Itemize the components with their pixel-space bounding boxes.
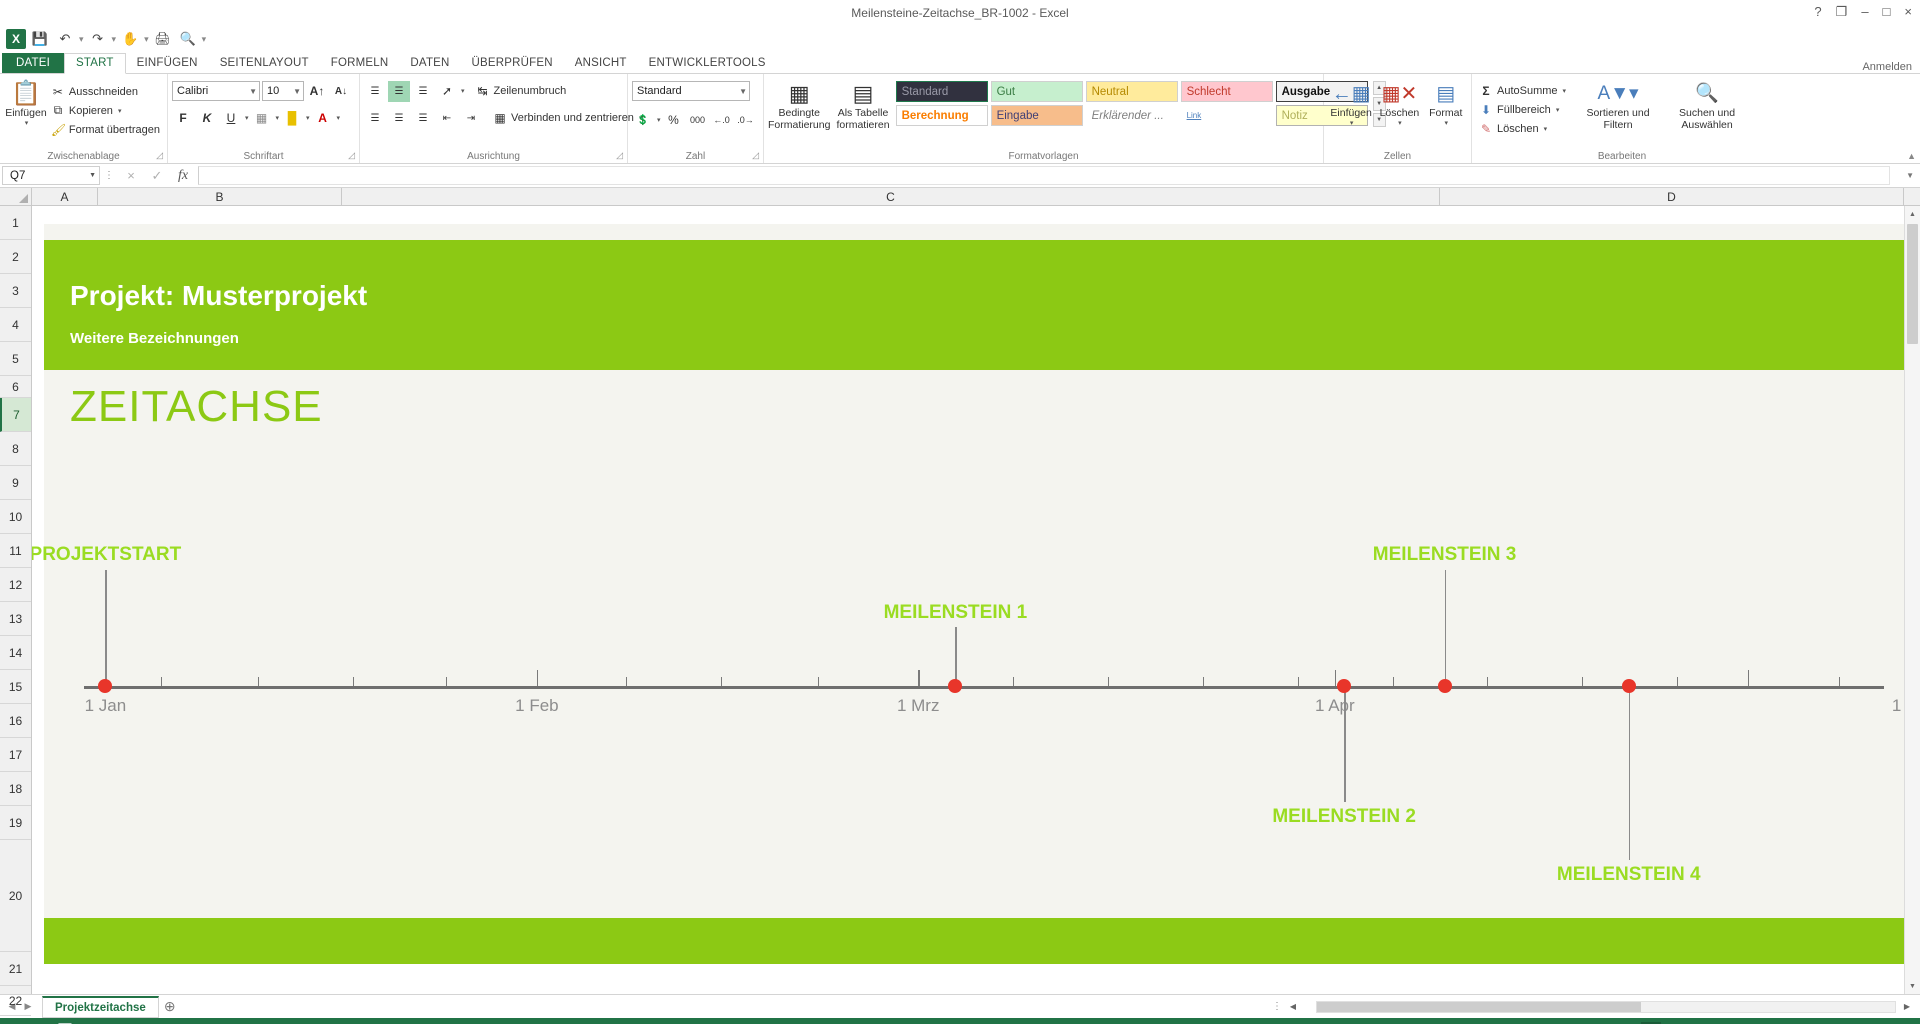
- comma-style-icon[interactable]: 000: [687, 110, 709, 131]
- font-color-dropdown-icon[interactable]: ▾: [337, 114, 341, 122]
- grid-body: 1 2 3 4 5 6 7 8 9 10 11 12 13 14 15 16 1…: [0, 206, 1920, 994]
- timeline-heading: ZEITACHSE: [70, 382, 323, 432]
- sort-filter-label-1: Sortieren und: [1587, 107, 1650, 119]
- wrap-text-button[interactable]: ↹ Zeilenumbruch: [473, 82, 570, 101]
- font-name-dropdown-icon[interactable]: ▼: [245, 87, 257, 96]
- number-format-select[interactable]: Standard ▼: [632, 81, 750, 101]
- conditional-formatting-button[interactable]: ▦ Bedingte Formatierung: [768, 79, 830, 131]
- row-headers: 1 2 3 4 5 6 7 8 9 10 11 12 13 14 15 16 1…: [0, 206, 32, 994]
- alignment-dialog-launcher-icon[interactable]: ◿: [616, 150, 623, 161]
- number-dialog-launcher-icon[interactable]: ◿: [752, 150, 759, 161]
- formula-bar-options-icon[interactable]: ⋮: [100, 170, 118, 181]
- paste-label: Einfügen: [5, 107, 46, 119]
- timeline-graphic[interactable]: Projekt: Musterprojekt Weitere Bezeichnu…: [44, 224, 1904, 964]
- tab-datei[interactable]: DATEI: [2, 53, 64, 73]
- borders-dropdown-icon[interactable]: ▾: [276, 114, 280, 122]
- group-label-editing: Bearbeiten: [1472, 151, 1772, 162]
- row-header-3[interactable]: 3: [0, 274, 31, 308]
- formula-input[interactable]: [198, 166, 1890, 185]
- sheet-tab-projektzeitachse[interactable]: Projektzeitachse: [42, 996, 159, 1018]
- find-select-button[interactable]: 🔍 Suchen und Auswählen: [1667, 79, 1747, 131]
- underline-button[interactable]: U: [220, 108, 242, 129]
- row-header-4[interactable]: 4: [0, 308, 31, 342]
- group-label-cells: Zellen: [1324, 151, 1471, 162]
- sort-filter-icon: A▼▾: [1598, 81, 1639, 107]
- column-header-d[interactable]: D: [1440, 188, 1904, 205]
- hscroll-track[interactable]: [1316, 1001, 1896, 1013]
- row-header-9[interactable]: 9: [0, 466, 31, 500]
- conditional-formatting-label-1: Bedingte: [779, 107, 820, 119]
- align-middle-icon[interactable]: ☰: [388, 81, 410, 102]
- fill-down-icon: ⬇: [1479, 103, 1493, 117]
- milestone-marker-dot: [948, 679, 962, 693]
- cell-style-gut[interactable]: Gut: [991, 81, 1083, 102]
- milestone-label-2: MEILENSTEIN 2: [1272, 806, 1416, 828]
- row-header-14[interactable]: 14: [0, 636, 31, 670]
- row-header-15[interactable]: 15: [0, 670, 31, 704]
- bold-button[interactable]: F: [172, 108, 194, 129]
- hscroll-thumb[interactable]: [1317, 1002, 1641, 1012]
- ribbon: 📋 Einfügen ▾ ✂ Ausschneiden ⧉ Kopieren ▾: [0, 74, 1920, 164]
- cell-style-schlecht[interactable]: Schlecht: [1181, 81, 1273, 102]
- number-format-dropdown-icon[interactable]: ▼: [735, 87, 747, 96]
- merge-center-button[interactable]: ▦ Verbinden und zentrieren ▾: [490, 109, 645, 128]
- currency-dropdown-icon[interactable]: ▾: [657, 116, 661, 124]
- vertical-scroll-thumb[interactable]: [1907, 224, 1918, 344]
- cell-style-neutral[interactable]: Neutral: [1086, 81, 1178, 102]
- milestone-label-projektstart: PROJEKTSTART: [32, 544, 181, 566]
- name-box[interactable]: Q7 ▼: [2, 166, 100, 185]
- row-header-18[interactable]: 18: [0, 772, 31, 806]
- column-header-c[interactable]: C: [342, 188, 1440, 205]
- tab-split-grip-icon[interactable]: ⋮: [1272, 1001, 1282, 1012]
- hscroll-right-icon[interactable]: ▶: [1900, 1002, 1914, 1011]
- ribbon-group-editing: Σ AutoSumme ▾ ⬇ Füllbereich ▾ ✎ Löschen …: [1472, 74, 1772, 163]
- delete-cells-button[interactable]: ▦✕ Löschen ▾: [1376, 79, 1422, 127]
- row-header-16[interactable]: 16: [0, 704, 31, 738]
- sort-filter-label-2: Filtern: [1603, 119, 1632, 131]
- ribbon-group-clipboard: 📋 Einfügen ▾ ✂ Ausschneiden ⧉ Kopieren ▾: [0, 74, 168, 163]
- fill-dropdown-icon[interactable]: ▾: [1556, 106, 1560, 114]
- merge-cells-icon: ▦: [493, 111, 507, 125]
- currency-icon[interactable]: 💲: [632, 110, 654, 131]
- group-label-clipboard: Zwischenablage: [0, 151, 167, 162]
- ribbon-group-number: Standard ▼ 💲 ▾ % 000 ←.0 .0→ Zahl ◿: [628, 74, 764, 163]
- grow-font-icon[interactable]: A↑: [306, 81, 328, 102]
- save-icon[interactable]: 💾: [29, 28, 51, 50]
- name-box-value: Q7: [10, 170, 25, 182]
- find-select-label-2: Auswählen: [1681, 119, 1732, 131]
- row-header-11[interactable]: 11: [0, 534, 31, 568]
- format-cells-dropdown-icon[interactable]: ▾: [1445, 119, 1449, 127]
- delete-cells-icon: ▦✕: [1382, 81, 1418, 107]
- row-header-10[interactable]: 10: [0, 500, 31, 534]
- date-label-apr: 1 Apr: [1315, 696, 1355, 716]
- cut-button[interactable]: ✂ Ausschneiden: [48, 82, 163, 101]
- format-as-table-button[interactable]: ▤ Als Tabelle formatieren: [836, 79, 889, 131]
- scroll-down-icon[interactable]: ▼: [1905, 978, 1920, 994]
- clear-label: Löschen: [1497, 123, 1539, 135]
- tab-daten[interactable]: DATEN: [399, 54, 460, 73]
- table-icon: ▤: [853, 81, 874, 107]
- row-header-21[interactable]: 21: [0, 952, 31, 986]
- fill-label: Füllbereich: [1497, 104, 1551, 116]
- excel-logo-icon: X: [6, 29, 26, 49]
- date-label-jan: 1 Jan: [85, 696, 127, 716]
- align-center-icon[interactable]: ☰: [388, 108, 410, 129]
- cell-style-erklaerender[interactable]: Erklärender ...: [1086, 105, 1178, 126]
- sheet-canvas[interactable]: Projekt: Musterprojekt Weitere Bezeichnu…: [32, 206, 1920, 994]
- format-as-table-label-2: formatieren: [836, 119, 889, 131]
- group-label-styles: Formatvorlagen: [764, 151, 1323, 162]
- date-label-feb: 1 Feb: [515, 696, 558, 716]
- clipboard-dialog-launcher-icon[interactable]: ◿: [156, 150, 163, 161]
- date-label-mrz: 1 Mrz: [897, 696, 940, 716]
- cut-label: Ausschneiden: [69, 86, 138, 98]
- milestone-marker-dot: [1622, 679, 1636, 693]
- fill-color-icon[interactable]: █: [281, 108, 303, 129]
- insert-cells-icon: ←▦: [1332, 81, 1371, 107]
- conditional-formatting-icon: ▦: [789, 81, 810, 107]
- select-all-button[interactable]: [0, 188, 32, 205]
- sign-in-link[interactable]: Anmelden: [1862, 61, 1920, 73]
- print-preview-icon[interactable]: 🔍: [177, 28, 199, 50]
- milestone-marker-dot: [98, 679, 112, 693]
- row-header-6[interactable]: 6: [0, 376, 31, 398]
- format-cells-label: Format: [1429, 107, 1462, 119]
- vertical-scrollbar[interactable]: ▲ ▼: [1904, 206, 1920, 994]
- autosum-label: AutoSumme: [1497, 85, 1558, 97]
- copy-button[interactable]: ⧉ Kopieren ▾: [48, 101, 163, 120]
- minimize-icon[interactable]: –: [1861, 2, 1868, 22]
- font-name-value: Calibri: [177, 85, 208, 97]
- milestone-label-1: MEILENSTEIN 1: [884, 602, 1028, 624]
- ribbon-group-alignment: ☰ ☰ ☰ ➚ ▾ ↹ Zeilenumbruch ☰ ☰ ☰ ⇤ ⇥: [360, 74, 628, 163]
- paintbrush-icon: 🖌: [51, 123, 65, 137]
- delete-cells-dropdown-icon[interactable]: ▾: [1398, 119, 1402, 127]
- paste-icon: 📋: [11, 81, 41, 107]
- row-header-7[interactable]: 7: [0, 398, 31, 432]
- tab-formeln[interactable]: FORMELN: [320, 54, 400, 73]
- timeline-axis: [84, 686, 1884, 689]
- align-bottom-icon[interactable]: ☰: [412, 81, 434, 102]
- font-size-value: 10: [267, 85, 279, 97]
- align-left-icon[interactable]: ☰: [364, 108, 386, 129]
- redo-dropdown-icon[interactable]: ▾: [112, 34, 117, 45]
- tab-ansicht[interactable]: ANSICHT: [564, 54, 638, 73]
- ribbon-display-options-icon[interactable]: ❐: [1836, 2, 1848, 22]
- tab-einfuegen[interactable]: EINFÜGEN: [126, 54, 209, 73]
- cancel-entry-icon[interactable]: ×: [118, 168, 144, 183]
- group-label-number: Zahl: [628, 151, 763, 162]
- conditional-formatting-label-2: Formatierung: [768, 119, 830, 131]
- decrease-decimal-icon[interactable]: .0→: [735, 110, 757, 131]
- customize-qat-icon[interactable]: ▾: [202, 34, 207, 45]
- autosum-dropdown-icon[interactable]: ▾: [1563, 87, 1567, 95]
- insert-cells-dropdown-icon[interactable]: ▾: [1350, 119, 1354, 127]
- orientation-icon[interactable]: ➚: [436, 81, 458, 102]
- milestone-label-4: MEILENSTEIN 4: [1557, 864, 1701, 886]
- row-header-20[interactable]: 20: [0, 840, 31, 952]
- timeline-footer-band: [44, 918, 1904, 964]
- insert-cells-button[interactable]: ←▦ Einfügen ▾: [1328, 79, 1374, 127]
- font-name-input[interactable]: Calibri ▼: [172, 81, 260, 101]
- window-controls: ? ❐ – □ ×: [1814, 2, 1912, 22]
- align-right-icon[interactable]: ☰: [412, 108, 434, 129]
- borders-icon[interactable]: ▦: [251, 108, 273, 129]
- project-subtitle: Weitere Bezeichnungen: [70, 330, 239, 347]
- print-icon[interactable]: 🖨: [152, 28, 174, 50]
- column-headers: A B C D: [0, 188, 1920, 206]
- delete-cells-label: Löschen: [1380, 107, 1420, 119]
- maximize-icon[interactable]: □: [1883, 2, 1891, 22]
- undo-dropdown-icon[interactable]: ▾: [79, 34, 84, 45]
- project-title: Projekt: Musterprojekt: [70, 280, 367, 312]
- group-label-alignment: Ausrichtung: [360, 151, 627, 162]
- formula-bar: Q7 ▼ ⋮ × ✓ fx ▼: [0, 164, 1920, 188]
- accept-entry-icon[interactable]: ✓: [144, 168, 170, 184]
- tab-ueberpruefen[interactable]: ÜBERPRÜFEN: [461, 54, 564, 73]
- find-select-label-1: Suchen und: [1679, 107, 1735, 119]
- milestone-marker-dot: [1438, 679, 1452, 693]
- add-sheet-icon[interactable]: ⊕: [159, 998, 181, 1015]
- wrap-text-icon: ↹: [476, 84, 490, 98]
- decrease-indent-icon[interactable]: ⇤: [436, 108, 458, 129]
- underline-dropdown-icon[interactable]: ▾: [245, 114, 249, 122]
- collapse-ribbon-icon[interactable]: ▲: [1907, 151, 1916, 161]
- font-size-input[interactable]: 10 ▼: [262, 81, 304, 101]
- touch-dropdown-icon[interactable]: ▾: [144, 34, 149, 45]
- milestone-label-3: MEILENSTEIN 3: [1373, 544, 1517, 566]
- row-header-8[interactable]: 8: [0, 432, 31, 466]
- row-header-17[interactable]: 17: [0, 738, 31, 772]
- ribbon-group-font: Calibri ▼ 10 ▼ A↑ A↓ F K U ▾ ▦ ▾: [168, 74, 360, 163]
- paste-dropdown-icon[interactable]: ▾: [25, 119, 29, 127]
- copy-icon: ⧉: [51, 103, 65, 118]
- close-icon[interactable]: ×: [1904, 2, 1912, 22]
- name-box-dropdown-icon[interactable]: ▼: [89, 172, 96, 179]
- row-header-19[interactable]: 19: [0, 806, 31, 840]
- scroll-up-icon[interactable]: ▲: [1905, 206, 1920, 222]
- italic-button[interactable]: K: [196, 108, 218, 129]
- row-header-13[interactable]: 13: [0, 602, 31, 636]
- copy-dropdown-icon[interactable]: ▾: [118, 107, 122, 115]
- quick-access-toolbar: X 💾 ↶ ▾ ↷ ▾ ✋ ▾ 🖨 🔍 ▾: [0, 26, 1920, 52]
- window-title: Meilensteine-Zeitachse_BR-1002 - Excel: [0, 0, 1920, 26]
- expand-formula-bar-icon[interactable]: ▼: [1906, 171, 1918, 180]
- tab-start[interactable]: START: [64, 53, 126, 74]
- undo-icon[interactable]: ↶: [54, 28, 76, 50]
- ribbon-tab-strip: DATEI START EINFÜGEN SEITENLAYOUT FORMEL…: [0, 52, 1920, 74]
- redo-icon[interactable]: ↷: [87, 28, 109, 50]
- excel-window: Meilensteine-Zeitachse_BR-1002 - Excel ?…: [0, 0, 1920, 1024]
- tab-seitenlayout[interactable]: SEITENLAYOUT: [209, 54, 320, 73]
- sheet-tab-bar: ◀ ▶ Projektzeitachse ⊕ ⋮ ◀ ▶: [0, 994, 1920, 1018]
- title-bar: Meilensteine-Zeitachse_BR-1002 - Excel ?…: [0, 0, 1920, 26]
- row-header-5[interactable]: 5: [0, 342, 31, 376]
- ribbon-group-cells: ←▦ Einfügen ▾ ▦✕ Löschen ▾ ▤ Format ▾ Ze…: [1324, 74, 1472, 163]
- cell-style-eingabe[interactable]: Eingabe: [991, 105, 1083, 126]
- cell-style-standard[interactable]: Standard: [896, 81, 988, 102]
- format-cells-icon: ▤: [1436, 81, 1455, 107]
- align-top-icon[interactable]: ☰: [364, 81, 386, 102]
- insert-cells-label: Einfügen: [1330, 107, 1371, 119]
- percent-style-icon[interactable]: %: [663, 110, 685, 131]
- shrink-font-icon[interactable]: A↓: [330, 81, 352, 102]
- clear-button[interactable]: ✎ Löschen ▾: [1476, 119, 1569, 138]
- wrap-text-label: Zeilenumbruch: [494, 85, 567, 97]
- date-label-mai: 1: [1892, 696, 1901, 716]
- number-format-value: Standard: [637, 85, 682, 97]
- binoculars-icon: 🔍: [1695, 81, 1719, 107]
- milestone-marker-dot: [1337, 679, 1351, 693]
- format-painter-button[interactable]: 🖌 Format übertragen: [48, 120, 163, 139]
- merge-center-label: Verbinden und zentrieren: [511, 112, 634, 124]
- fill-color-dropdown-icon[interactable]: ▾: [306, 114, 310, 122]
- fill-button[interactable]: ⬇ Füllbereich ▾: [1476, 100, 1569, 119]
- column-header-a[interactable]: A: [32, 188, 98, 205]
- eraser-icon: ✎: [1479, 122, 1493, 136]
- paste-button[interactable]: 📋 Einfügen ▾: [4, 79, 48, 127]
- sigma-icon: Σ: [1479, 84, 1493, 98]
- status-bar: BEREIT 📊 ▦ 📄 ▣ − + 130%: [0, 1018, 1920, 1024]
- sort-filter-button[interactable]: A▼▾ Sortieren und Filtern: [1577, 79, 1659, 131]
- format-as-table-label-1: Als Tabelle: [838, 107, 889, 119]
- font-size-dropdown-icon[interactable]: ▼: [289, 87, 301, 96]
- column-header-b[interactable]: B: [98, 188, 342, 205]
- autosum-button[interactable]: Σ AutoSumme ▾: [1476, 81, 1569, 100]
- increase-decimal-icon[interactable]: ←.0: [711, 110, 733, 131]
- row-header-22[interactable]: 22: [0, 986, 31, 1016]
- hscroll-left-icon[interactable]: ◀: [1286, 1002, 1300, 1011]
- copy-label: Kopieren: [69, 105, 113, 117]
- clear-dropdown-icon[interactable]: ▾: [1544, 125, 1548, 133]
- timeline-header-band: Projekt: Musterprojekt Weitere Bezeichnu…: [44, 240, 1904, 370]
- scissors-icon: ✂: [51, 85, 65, 99]
- font-color-icon[interactable]: A: [312, 108, 334, 129]
- horizontal-scrollbar[interactable]: ⋮ ◀ ▶: [181, 1001, 1920, 1013]
- group-label-font: Schriftart: [168, 151, 359, 162]
- format-cells-button[interactable]: ▤ Format ▾: [1425, 79, 1467, 127]
- ribbon-group-styles: ▦ Bedingte Formatierung ▤ Als Tabelle fo…: [764, 74, 1324, 163]
- font-dialog-launcher-icon[interactable]: ◿: [348, 150, 355, 161]
- cell-style-berechnung[interactable]: Berechnung: [896, 105, 988, 126]
- help-icon[interactable]: ?: [1814, 2, 1821, 22]
- orientation-dropdown-icon[interactable]: ▾: [461, 87, 465, 95]
- increase-indent-icon[interactable]: ⇥: [460, 108, 482, 129]
- row-header-1[interactable]: 1: [0, 206, 31, 240]
- row-header-2[interactable]: 2: [0, 240, 31, 274]
- insert-function-icon[interactable]: fx: [170, 168, 196, 184]
- tab-entwicklertools[interactable]: ENTWICKLERTOOLS: [638, 54, 777, 73]
- worksheet-area: A B C D 1 2 3 4 5 6 7 8 9 10 11 12 13 14: [0, 188, 1920, 994]
- format-painter-label: Format übertragen: [69, 124, 160, 136]
- cell-style-link[interactable]: Link: [1181, 105, 1273, 126]
- touch-mode-icon[interactable]: ✋: [119, 28, 141, 50]
- row-header-12[interactable]: 12: [0, 568, 31, 602]
